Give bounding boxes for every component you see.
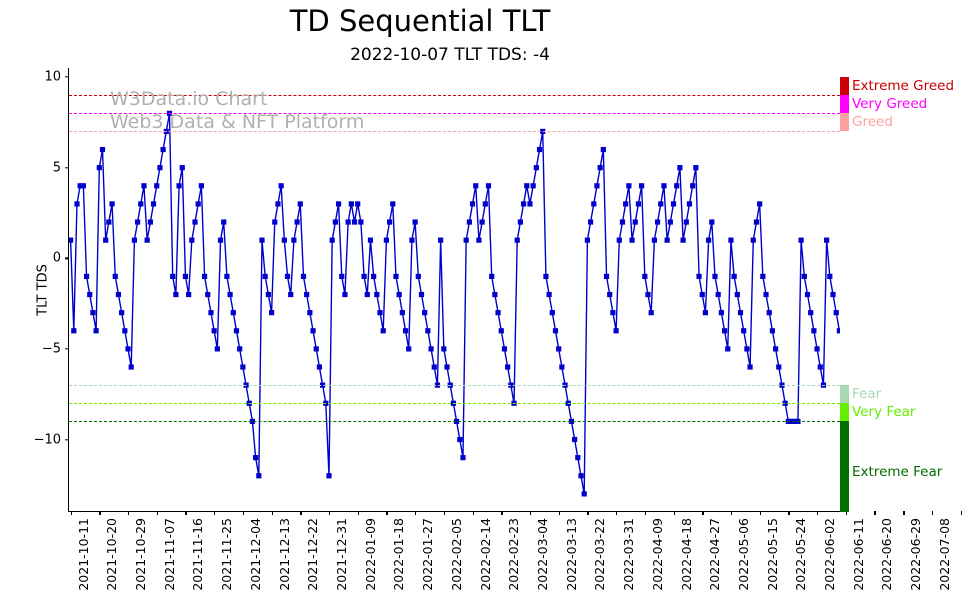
x-tick-label: 2022-06-20	[879, 518, 894, 591]
chart-title: TD Sequential TLT	[0, 4, 840, 38]
threshold-line	[69, 421, 840, 422]
x-tick-label: 2021-12-22	[305, 518, 320, 591]
x-tick-mark	[444, 511, 445, 515]
x-tick-label: 2022-06-11	[851, 518, 866, 591]
sentiment-band	[840, 95, 849, 113]
x-tick-mark	[587, 511, 588, 515]
x-tick-mark	[645, 511, 646, 515]
x-tick-label: 2021-11-16	[190, 518, 205, 591]
x-tick-label: 2022-01-09	[363, 518, 378, 591]
x-tick-label: 2022-06-02	[822, 518, 837, 591]
x-tick-mark	[157, 511, 158, 515]
x-tick-mark	[300, 511, 301, 515]
plot-inner	[69, 68, 840, 511]
x-tick-label: 2021-12-13	[277, 518, 292, 591]
x-tick-mark	[358, 511, 359, 515]
sentiment-label: Greed	[852, 114, 893, 130]
x-tick-mark	[788, 511, 789, 515]
x-tick-mark	[71, 511, 72, 515]
sentiment-label: Very Fear	[852, 404, 915, 420]
x-tick-mark	[128, 511, 129, 515]
x-tick-label: 2022-04-27	[707, 518, 722, 591]
x-tick-mark	[903, 511, 904, 515]
x-tick-mark	[674, 511, 675, 515]
watermark-primary: W3Data.io Chart	[110, 88, 267, 110]
x-tick-label: 2022-02-05	[449, 518, 464, 591]
x-tick-label: 2022-02-23	[506, 518, 521, 591]
x-tick-mark	[415, 511, 416, 515]
x-tick-mark	[932, 511, 933, 515]
chart-subtitle: 2022-10-07 TLT TDS: -4	[0, 44, 900, 66]
x-tick-label: 2022-03-04	[535, 518, 550, 591]
x-tick-mark	[473, 511, 474, 515]
x-tick-mark	[559, 511, 560, 515]
x-tick-label: 2021-10-29	[133, 518, 148, 591]
x-tick-mark	[530, 511, 531, 515]
x-tick-label: 2021-11-25	[219, 518, 234, 591]
plot-area: TLT TDS 1050−5−10 2021-10-112021-10-2020…	[68, 68, 840, 512]
sentiment-label: Very Greed	[852, 96, 927, 112]
sentiment-band	[840, 113, 849, 131]
chart-figure: TD Sequential TLT 2022-10-07 TLT TDS: -4…	[0, 0, 962, 614]
x-tick-label: 2022-03-22	[592, 518, 607, 591]
x-tick-mark	[99, 511, 100, 515]
tds-series	[69, 68, 840, 511]
sentiment-label: Fear	[852, 386, 881, 402]
x-tick-label: 2021-12-04	[248, 518, 263, 591]
x-tick-label: 2022-05-06	[736, 518, 751, 591]
x-tick-mark	[616, 511, 617, 515]
x-tick-label: 2021-10-11	[76, 518, 91, 591]
sentiment-label: Extreme Fear	[852, 464, 942, 480]
sentiment-band	[840, 77, 849, 95]
x-tick-label: 2022-05-15	[765, 518, 780, 591]
x-tick-mark	[760, 511, 761, 515]
x-tick-label: 2021-12-31	[334, 518, 349, 591]
x-tick-label: 2022-03-31	[621, 518, 636, 591]
x-tick-label: 2022-07-08	[937, 518, 952, 591]
x-tick-label: 2022-01-27	[420, 518, 435, 591]
sentiment-band	[840, 385, 849, 403]
x-tick-label: 2021-10-20	[104, 518, 119, 591]
x-tick-mark	[731, 511, 732, 515]
sentiment-band	[840, 403, 849, 421]
threshold-line	[69, 403, 840, 404]
x-tick-mark	[243, 511, 244, 515]
x-tick-label: 2022-03-13	[564, 518, 579, 591]
sentiment-label: Extreme Greed	[852, 78, 954, 94]
x-tick-mark	[386, 511, 387, 515]
x-tick-mark	[501, 511, 502, 515]
x-tick-label: 2021-11-07	[162, 518, 177, 591]
watermark-secondary: Web3 Data & NFT Platform	[110, 111, 364, 133]
x-tick-mark	[817, 511, 818, 515]
x-tick-label: 2022-04-18	[679, 518, 694, 591]
y-axis-label: TLT TDS	[35, 264, 50, 316]
x-tick-label: 2022-06-29	[908, 518, 923, 591]
y-tick-label: −10	[34, 432, 69, 447]
x-tick-mark	[214, 511, 215, 515]
x-tick-mark	[702, 511, 703, 515]
x-tick-label: 2022-02-14	[478, 518, 493, 591]
threshold-line	[69, 385, 840, 386]
x-tick-label: 2022-04-09	[650, 518, 665, 591]
sentiment-band	[840, 421, 849, 512]
x-tick-label: 2022-05-24	[793, 518, 808, 591]
x-tick-mark	[874, 511, 875, 515]
x-tick-label: 2022-01-18	[391, 518, 406, 591]
x-tick-mark	[272, 511, 273, 515]
x-tick-mark	[185, 511, 186, 515]
x-tick-mark	[329, 511, 330, 515]
